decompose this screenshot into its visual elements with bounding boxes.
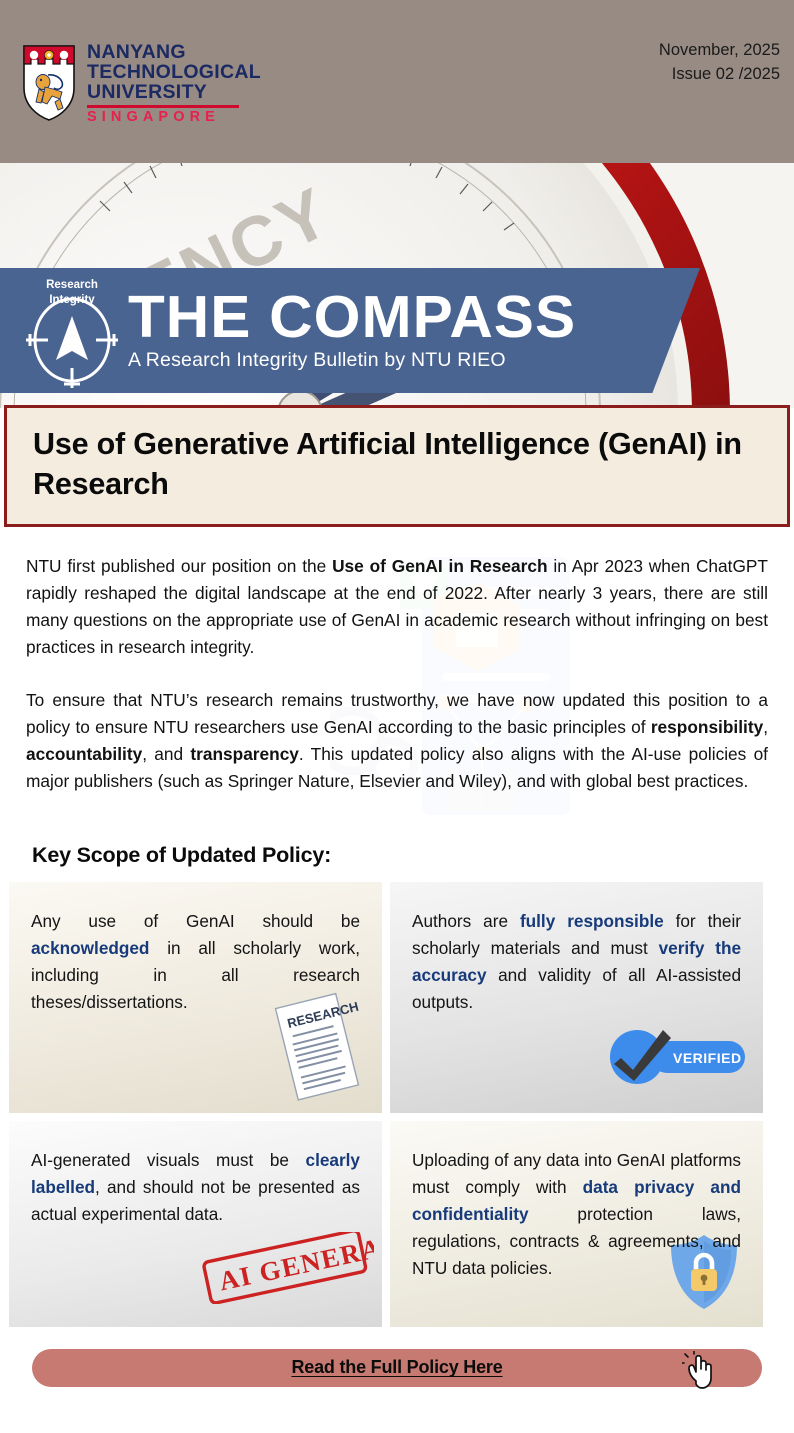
p2-bold-accountability: accountability — [26, 744, 142, 764]
ntu-wordmark: NANYANG TECHNOLOGICAL UNIVERSITY SINGAPO… — [87, 42, 261, 125]
card-3-text: AI-generated visuals must be clearly lab… — [31, 1147, 360, 1229]
read-policy-link[interactable]: Read the Full Policy Here — [291, 1357, 502, 1378]
logo-country: SINGAPORE — [87, 110, 261, 125]
click-hand-icon — [682, 1351, 720, 1396]
badge-line-2: Integrity — [18, 293, 126, 309]
headline-section: Use of Generative Artificial Intelligenc… — [0, 405, 794, 527]
logo-line-1: NANYANG — [87, 42, 261, 62]
card-1-text-a: Any use of GenAI should be — [31, 911, 360, 931]
read-policy-button[interactable]: Read the Full Policy Here — [32, 1349, 762, 1387]
card-3-text-a: AI-generated visuals must be — [31, 1150, 306, 1170]
p2-sep-1: , — [763, 717, 768, 737]
card-4-text: Uploading of any data into GenAI platfor… — [412, 1147, 741, 1283]
p1-bold: Use of GenAI in Research — [332, 556, 547, 576]
banner-title-strip: Research Integrity — [0, 268, 700, 393]
policy-card-acknowledgement: Any use of GenAI should be acknowledged … — [9, 882, 382, 1113]
verified-label: VERIFIED — [673, 1050, 742, 1066]
headline-box: Use of Generative Artificial Intelligenc… — [4, 405, 790, 527]
masthead-banner: DECENCY INTEGRITY Research Integrity — [0, 163, 794, 408]
cta-section: Read the Full Policy Here — [0, 1327, 794, 1387]
policy-scope-grid: Any use of GenAI should be acknowledged … — [0, 882, 794, 1327]
newsletter-page: NANYANG TECHNOLOGICAL UNIVERSITY SINGAPO… — [0, 0, 794, 1433]
issue-info: November, 2025 Issue 02 /2025 — [659, 39, 780, 125]
issue-number: Issue 02 /2025 — [659, 63, 780, 87]
policy-card-responsibility: Authors are fully responsible for their … — [390, 882, 763, 1113]
ntu-logo: NANYANG TECHNOLOGICAL UNIVERSITY SINGAPO… — [22, 42, 261, 125]
ai-generated-stamp-icon: AI GENERATED — [194, 1232, 374, 1309]
page-title: Use of Generative Artificial Intelligenc… — [33, 424, 767, 505]
research-integrity-compass-icon: Research Integrity — [18, 272, 126, 390]
paragraph-2: To ensure that NTU’s research remains tr… — [26, 687, 768, 795]
card-2-text-a: Authors are — [412, 911, 520, 931]
badge-line-1: Research — [18, 278, 126, 294]
article-body: NTU first published our position on the … — [0, 553, 794, 868]
logo-line-3: UNIVERSITY — [87, 82, 261, 102]
p2-bold-responsibility: responsibility — [651, 717, 763, 737]
ntu-crest-icon — [22, 44, 76, 122]
card-2-text: Authors are fully responsible for their … — [412, 908, 741, 1017]
paragraph-1: NTU first published our position on the … — [26, 553, 768, 661]
policy-card-labelling: AI-generated visuals must be clearly lab… — [9, 1121, 382, 1327]
bulletin-subtitle: A Research Integrity Bulletin by NTU RIE… — [128, 349, 567, 372]
logo-line-2: TECHNOLOGICAL — [87, 62, 261, 82]
section-heading: Key Scope of Updated Policy: — [32, 843, 768, 868]
p1-part-a: NTU first published our position on the — [26, 556, 332, 576]
bulletin-title: THE COMPASS — [128, 289, 576, 346]
page-header: NANYANG TECHNOLOGICAL UNIVERSITY SINGAPO… — [0, 0, 794, 163]
card-1-text: Any use of GenAI should be acknowledged … — [31, 908, 360, 1017]
banner-text: THE COMPASS A Research Integrity Bulleti… — [128, 289, 567, 372]
issue-date: November, 2025 — [659, 39, 780, 63]
verified-badge-icon: VERIFIED — [607, 1028, 747, 1091]
policy-card-data-privacy: Uploading of any data into GenAI platfor… — [390, 1121, 763, 1327]
p2-bold-transparency: transparency — [190, 744, 299, 764]
logo-divider — [87, 105, 239, 107]
card-2-bold-1: fully responsible — [520, 911, 664, 931]
p2-sep-2: , and — [142, 744, 190, 764]
card-1-bold: acknowledged — [31, 938, 149, 958]
